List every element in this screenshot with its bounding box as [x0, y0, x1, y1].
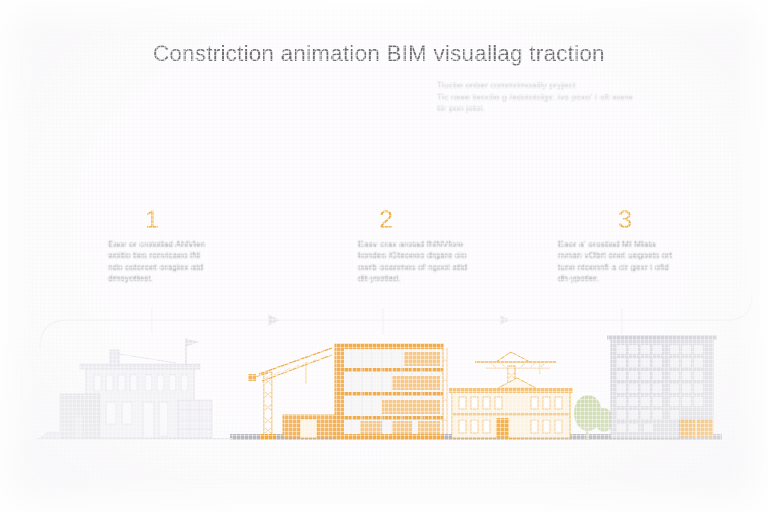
scene-modern-office-block: [595, 335, 717, 438]
lowrise-mid-band: [452, 413, 570, 416]
construction-scaffold: [443, 348, 447, 434]
construction-progression-illustration: [0, 330, 768, 460]
connector-arrow-2-icon: [500, 315, 510, 325]
crane-2-jib-lattice: [490, 362, 546, 368]
step-3-number: 3: [558, 205, 738, 235]
step-2-body-line-2: kondes iGteoeeo drgare oio: [358, 250, 500, 261]
house-chimney: [110, 350, 119, 365]
flag-icon: [186, 339, 198, 346]
step-3-body-line-2: nvnan vObrt onet uegoets ort: [558, 250, 700, 261]
step-3: 3 Eaor a' orostiad MI Mlata nvnan vObrt …: [558, 205, 738, 285]
step-1-body-line-4: dmoyotlest.: [108, 273, 250, 284]
step-3-body-line-4: dh-ypotler.: [558, 273, 700, 284]
crane-1-jib-lattice: [266, 356, 326, 378]
step-2-body: Easv crax arotad fhlNVfore kondes iGteoe…: [358, 239, 500, 285]
step-2: 2 Easv crax arotad fhlNVfore kondes iGte…: [358, 205, 538, 285]
crane-2-apex: [496, 352, 530, 362]
crane-1-counterweight: [248, 374, 256, 381]
step-1-number: 1: [108, 205, 288, 235]
subtitle-line-1: Tiucbe onber commrimoailly pryject: [437, 80, 652, 92]
page-title: Constriction animation BIM visuallag tra…: [153, 41, 605, 67]
step-2-body-line-1: Easv crax arotad fhlNVfore: [358, 239, 500, 250]
subtitle-block: Tiucbe onber commrimoailly pryject Tic r…: [437, 80, 652, 115]
lowrise-cornice: [449, 388, 573, 393]
step-2-body-line-4: dit-ysotlad.: [358, 273, 500, 284]
scene-building-under-construction: [248, 344, 447, 439]
scene-existing-house: [40, 338, 212, 438]
scene-completed-low-rise: [449, 352, 602, 439]
crane-1-jib-top: [259, 348, 332, 374]
lowrise-entrance-door: [496, 418, 509, 438]
subtitle-line-2: Tic rawe twoclie g /edototolgs: ivo poxo…: [437, 92, 652, 104]
house-entry-steps: [40, 432, 58, 438]
crane-1-mast-lattice: [264, 378, 272, 434]
house-storefront: [178, 400, 212, 438]
office-block-parapet: [607, 335, 717, 340]
step-1-body-line-2: woitio ties ronvicaeo iNi: [108, 250, 250, 261]
step-3-body-line-3: tune ntoennfi a cir gexr i ofid: [558, 262, 700, 273]
subtitle-line-3: tiir pon jotoi.: [437, 103, 652, 115]
step-1-body-line-3: ndo ostoroet oragiex atd: [108, 262, 250, 273]
lowrise-gable: [498, 378, 536, 388]
step-1-body-line-1: Eaor or crototlad AhlVlen: [108, 239, 250, 250]
house-cornice: [80, 364, 200, 369]
infographic-canvas: Constriction animation BIM visuallag tra…: [0, 0, 768, 512]
step-1: 1 Eaor or crototlad AhlVlen woitio ties …: [108, 205, 288, 285]
step-2-number: 2: [358, 205, 538, 235]
step-1-body: Eaor or crototlad AhlVlen woitio ties ro…: [108, 239, 250, 285]
house-annex-door: [74, 416, 83, 438]
construction-edge-column: [335, 344, 344, 438]
step-3-body: Eaor a' orostiad MI Mlata nvnan vObrt on…: [558, 239, 700, 285]
tree-trunk: [586, 426, 589, 439]
office-side-tree-canopy: [595, 408, 613, 432]
step-3-body-line-1: Eaor a' orostiad MI Mlata: [558, 239, 700, 250]
house-roof-slope: [119, 354, 176, 363]
connector-arrow-1-icon: [268, 314, 280, 326]
construction-podium-opening: [300, 419, 317, 438]
step-2-body-line-3: owrb ooanmes of ngoot attd: [358, 262, 500, 273]
crane-1-base: [260, 434, 276, 439]
